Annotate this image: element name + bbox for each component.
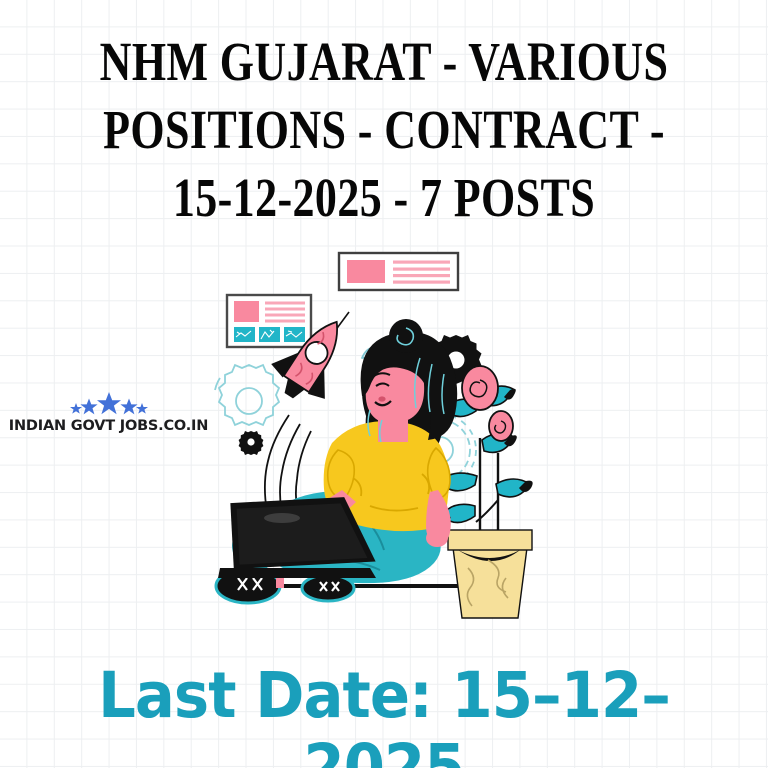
poster-canvas: NHM GUJARAT - VARIOUS POSITIONS - CONTRA… [0, 0, 768, 768]
card-top-illustration [339, 253, 458, 290]
stars-icon [6, 392, 211, 418]
site-watermark: INDIAN GOVT JOBS.CO.IN [6, 392, 211, 434]
page-title: NHM GUJARAT - VARIOUS POSITIONS - CONTRA… [99, 28, 669, 232]
card-left-illustration [227, 295, 311, 347]
last-date-label: Last Date: 15–12–2025 [23, 660, 745, 768]
gear-black-tiny-illustration [239, 431, 264, 455]
gear-outline-left-illustration [215, 365, 279, 425]
hero-illustration [210, 238, 580, 638]
person-illustration [216, 319, 457, 603]
site-name-label: INDIAN GOVT JOBS.CO.IN [6, 418, 211, 434]
